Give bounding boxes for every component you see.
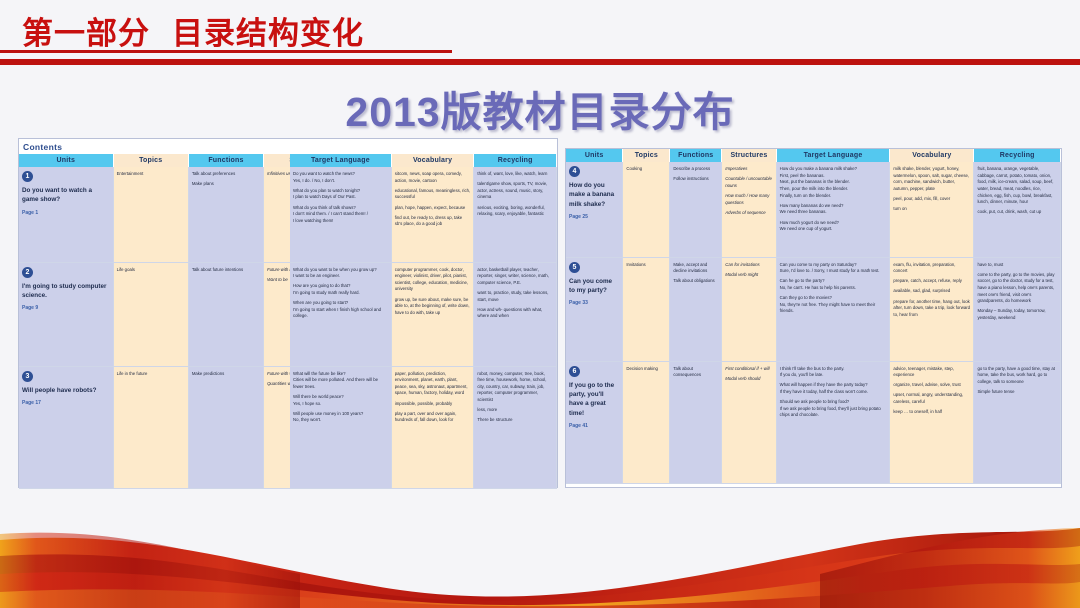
recycling-cell: actor, basketball player, teacher, repor…: [474, 262, 557, 366]
cell-paragraph: exam, flu, invitation, preparation, conc…: [893, 262, 970, 275]
unit-number-badge: 1: [22, 171, 33, 182]
unit-title: I'm going to study computer science.: [22, 282, 110, 301]
functions-cell: Describe a processFollow instructions: [670, 162, 722, 257]
cell-paragraph: What do you plan to watch tonight?I plan…: [293, 188, 388, 201]
unit-cell[interactable]: 2I'm going to study computer science.Pag…: [19, 262, 113, 366]
target-language-cell: What do you want to be when you grow up?…: [290, 262, 391, 366]
cell-paragraph: organize, travel, advise, solve, trust: [893, 382, 970, 389]
cell-paragraph: How much / How many questions: [725, 193, 772, 206]
cell-paragraph: available, sad, glad, surprised: [893, 288, 970, 295]
column-header-recycling: Recycling: [474, 154, 557, 167]
topics-cell: Entertainment: [113, 167, 188, 262]
table-header-row-right: Units Topics Functions Structures Target…: [566, 149, 1061, 162]
heading-underline-thin: [0, 50, 452, 53]
cell-paragraph: Can you come to my party on Saturday?Sur…: [780, 262, 887, 275]
cell-paragraph: Do you want to watch the news?Yes, I do.…: [293, 171, 388, 184]
unit-number-badge: 3: [22, 371, 33, 382]
cell-paragraph: paper, pollution, prediction, environmen…: [395, 371, 471, 398]
table-row: 5Can you come to my party?Page 33Invitat…: [566, 257, 1061, 361]
vocabulary-cell: sitcom, news, soap opera, comedy, action…: [391, 167, 474, 262]
cell-paragraph: First conditional if + will: [725, 366, 772, 373]
slide-canvas: 第一部分目录结构变化 2013版教材目录分布 Contents Units To…: [0, 0, 1080, 608]
cell-paragraph: think of, want, love, like, watch, learn: [477, 171, 553, 178]
cell-paragraph: Life goals: [117, 267, 185, 274]
cell-paragraph: Life in the future: [117, 371, 185, 378]
column-header-functions-right: Functions: [670, 149, 722, 162]
cell-paragraph: talent/game show, sports, TV, movie, act…: [477, 181, 553, 201]
spacer-label-left: [290, 139, 557, 154]
column-header-vocabulary: Vocabulary: [391, 154, 474, 167]
unit-number-badge: 5: [569, 262, 580, 273]
column-header-units-right: Units: [566, 149, 623, 162]
unit-cell[interactable]: 6If you go to the party, you'll have a g…: [566, 361, 623, 483]
target-language-cell: How do you make a banana milk shake?Firs…: [776, 162, 890, 257]
topics-cell: Decision making: [623, 361, 670, 483]
column-header-vocabulary-right: Vocabulary: [890, 149, 974, 162]
cell-paragraph: milk shake, blender, yogurt, honey, wate…: [893, 166, 970, 193]
cell-paragraph: Entertainment: [117, 171, 185, 178]
column-header-topics: Topics: [113, 154, 188, 167]
cell-paragraph: Make, accept and decline invitations: [673, 262, 718, 275]
topics-cell: Invitations: [623, 257, 670, 361]
cell-paragraph: educational, famous, meaningless, rich, …: [395, 188, 471, 201]
unit-title: How do you make a banana milk shake?: [569, 181, 619, 209]
cell-paragraph: want to, practice, study, take lessons, …: [477, 290, 553, 303]
cell-paragraph: Will there be world peace?Yes, I hope so…: [293, 394, 388, 407]
contents-table-left-wide: Target Language Vocabulary Recycling Do …: [290, 138, 558, 488]
unit-number-badge: 2: [22, 267, 33, 278]
functions-cell: Talk about consequences: [670, 361, 722, 483]
red-ribbon-decoration: [0, 498, 1080, 608]
page-title: 2013版教材目录分布: [0, 78, 1080, 138]
functions-cell: Talk about preferencesMake plans: [188, 167, 263, 262]
cell-paragraph: peel, pour, add, mix, fill, cover: [893, 196, 970, 203]
structures-cell: ImperativesCountable / uncountable nouns…: [722, 162, 776, 257]
cell-paragraph: Make predictions: [192, 371, 260, 378]
cell-paragraph: Modal verb might: [725, 272, 772, 279]
cell-paragraph: Will people use money in 100 years?No, t…: [293, 411, 388, 424]
cell-paragraph: turn on: [893, 206, 970, 213]
cell-paragraph: Adverbs of sequence: [725, 210, 772, 217]
cell-paragraph: prepare, catch, accept, refuse, reply: [893, 278, 970, 285]
unit-page-label: Page 1: [22, 210, 110, 218]
unit-cell[interactable]: 4How do you make a banana milk shake?Pag…: [566, 162, 623, 257]
cell-paragraph: find out, be ready to, dress up, take sb…: [395, 215, 471, 228]
cell-paragraph: Talk about obligations: [673, 278, 718, 285]
vocabulary-cell: milk shake, blender, yogurt, honey, wate…: [890, 162, 974, 257]
cell-paragraph: play a part, over and over again, hundre…: [395, 411, 471, 424]
target-language-cell: What will the future be like?Cities will…: [290, 366, 391, 488]
unit-title: Can you come to my party?: [569, 277, 619, 296]
cell-paragraph: How much yogurt do we need?We need one c…: [780, 220, 887, 233]
cell-paragraph: have to, must: [977, 262, 1057, 269]
unit-page-label: Page 17: [22, 400, 110, 408]
vocabulary-cell: advice, teenager, mistake, step, experie…: [890, 361, 974, 483]
cell-paragraph: less, more: [477, 407, 553, 414]
topics-cell: Life goals: [113, 262, 188, 366]
cell-paragraph: How are you going to do that?I'm going t…: [293, 283, 388, 296]
units-grid-right: Units Topics Functions Structures Target…: [566, 149, 1061, 484]
cell-paragraph: When are you going to start?I'm going to…: [293, 300, 388, 320]
unit-page-label: Page 41: [569, 423, 619, 431]
column-header-target-language: Target Language: [290, 154, 391, 167]
recycling-cell: robot, money, computer, tree, book, free…: [474, 366, 557, 488]
recycling-cell: fruit, banana, orange, vegetable, cabbag…: [974, 162, 1061, 257]
table-header-row-left-wide: Target Language Vocabulary Recycling: [290, 154, 557, 167]
cell-paragraph: Cooking: [626, 166, 666, 173]
target-language-cell: I think I'll take the bus to the party.I…: [776, 361, 890, 483]
unit-page-label: Page 25: [569, 214, 619, 222]
cell-paragraph: robot, money, computer, tree, book, free…: [477, 371, 553, 404]
cell-paragraph: What do you want to be when you grow up?…: [293, 267, 388, 280]
column-header-structures-right: Structures: [722, 149, 776, 162]
cell-paragraph: Can he go to the party?No, he can't. He …: [780, 278, 887, 291]
table-row: Do you want to watch the news?Yes, I do.…: [290, 167, 557, 262]
cell-paragraph: There be structure: [477, 417, 553, 424]
unit-cell[interactable]: 1Do you want to watch a game show?Page 1: [19, 167, 113, 262]
cell-paragraph: Simple future tense: [977, 389, 1057, 396]
cell-paragraph: Follow instructions: [673, 176, 718, 183]
functions-cell: Make predictions: [188, 366, 263, 488]
cell-paragraph: Should we ask people to bring food?If we…: [780, 399, 887, 419]
recycling-cell: have to, mustcome to the party, go to th…: [974, 257, 1061, 361]
cell-paragraph: Can they go to the movies?No, they're no…: [780, 295, 887, 315]
cell-paragraph: Make plans: [192, 181, 260, 188]
target-language-cell: Do you want to watch the news?Yes, I do.…: [290, 167, 391, 262]
table-row: 6If you go to the party, you'll have a g…: [566, 361, 1061, 483]
section-label-topic: 目录结构变化: [172, 16, 364, 51]
unit-cell[interactable]: 3Will people have robots?Page 17: [19, 366, 113, 488]
cell-paragraph: Talk about preferences: [192, 171, 260, 178]
cell-paragraph: Imperatives: [725, 166, 772, 173]
column-header-units: Units: [19, 154, 113, 167]
column-header-recycling-right: Recycling: [974, 149, 1061, 162]
cell-paragraph: prepare for, another time, hang out, loo…: [893, 299, 970, 319]
unit-number-badge: 6: [569, 366, 580, 377]
structures-cell: Can for invitationsModal verb might: [722, 257, 776, 361]
cell-paragraph: impossible, possible, probably: [395, 401, 471, 408]
cell-paragraph: Talk about future intentions: [192, 267, 260, 274]
cell-paragraph: Can for invitations: [725, 262, 772, 269]
unit-cell[interactable]: 5Can you come to my party?Page 33: [566, 257, 623, 361]
cell-paragraph: advice, teenager, mistake, step, experie…: [893, 366, 970, 379]
column-header-target-language-right: Target Language: [776, 149, 890, 162]
cell-paragraph: Invitations: [626, 262, 666, 269]
cell-paragraph: Decision making: [626, 366, 666, 373]
unit-title: If you go to the party, you'll have a gr…: [569, 381, 619, 419]
cell-paragraph: What will the future be like?Cities will…: [293, 371, 388, 391]
cell-paragraph: Countable / uncountable nouns: [725, 176, 772, 189]
cell-paragraph: What will happen if they have the party …: [780, 382, 887, 395]
cell-paragraph: Describe a process: [673, 166, 718, 173]
functions-cell: Talk about future intentions: [188, 262, 263, 366]
vocabulary-cell: computer programmer, cook, doctor, engin…: [391, 262, 474, 366]
cell-paragraph: serious, exciting, boring, wonderful, re…: [477, 205, 553, 218]
vocabulary-cell: exam, flu, invitation, preparation, conc…: [890, 257, 974, 361]
cell-paragraph: I think I'll take the bus to the party.I…: [780, 366, 887, 379]
cell-paragraph: How do you make a banana milk shake?Firs…: [780, 166, 887, 199]
unit-number-badge: 4: [569, 166, 580, 177]
cell-paragraph: cook, put, cut, drink, wash, cut up: [977, 209, 1057, 216]
table-row: What will the future be like?Cities will…: [290, 366, 557, 488]
cell-paragraph: Modal verb should: [725, 376, 772, 383]
unit-page-label: Page 9: [22, 305, 110, 313]
cell-paragraph: upset, normal, angry, understanding, car…: [893, 392, 970, 405]
section-label-part: 第一部分: [22, 16, 150, 51]
cell-paragraph: actor, basketball player, teacher, repor…: [477, 267, 553, 287]
structures-cell: First conditional if + willModal verb sh…: [722, 361, 776, 483]
functions-cell: Make, accept and decline invitationsTalk…: [670, 257, 722, 361]
cell-paragraph: What do you think of talk shows?I don't …: [293, 205, 388, 225]
cell-paragraph: keep … to oneself, in half: [893, 409, 970, 416]
cell-paragraph: come to the party, go to the movies, pla…: [977, 272, 1057, 305]
unit-title: Do you want to watch a game show?: [22, 186, 110, 205]
table-row: 4How do you make a banana milk shake?Pag…: [566, 162, 1061, 257]
cell-paragraph: Talk about consequences: [673, 366, 718, 379]
cell-paragraph: Monday – Sunday, today, tomorrow, yester…: [977, 308, 1057, 321]
topics-cell: Life in the future: [113, 366, 188, 488]
cell-paragraph: How many bananas do we need?We need thre…: [780, 203, 887, 216]
table-row: What do you want to be when you grow up?…: [290, 262, 557, 366]
cell-paragraph: grow up, be sure about, make sure, be ab…: [395, 297, 471, 317]
vocabulary-cell: paper, pollution, prediction, environmen…: [391, 366, 474, 488]
heading-underline-thick: [0, 59, 1080, 65]
cell-paragraph: go to the party, have a good time, stay …: [977, 366, 1057, 386]
cell-paragraph: How and wh- questions with what, where a…: [477, 307, 553, 320]
column-header-functions: Functions: [188, 154, 263, 167]
unit-title: Will people have robots?: [22, 386, 110, 395]
contents-table-right: Units Topics Functions Structures Target…: [565, 148, 1062, 488]
unit-page-label: Page 33: [569, 300, 619, 308]
recycling-cell: think of, want, love, like, watch, learn…: [474, 167, 557, 262]
recycling-cell: go to the party, have a good time, stay …: [974, 361, 1061, 483]
units-grid-left-wide: Target Language Vocabulary Recycling Do …: [290, 154, 557, 489]
section-heading: 第一部分目录结构变化: [22, 8, 364, 53]
cell-paragraph: computer programmer, cook, doctor, engin…: [395, 267, 471, 294]
cell-paragraph: fruit, banana, orange, vegetable, cabbag…: [977, 166, 1057, 206]
target-language-cell: Can you come to my party on Saturday?Sur…: [776, 257, 890, 361]
cell-paragraph: plan, hope, happen, expect, because: [395, 205, 471, 212]
cell-paragraph: sitcom, news, soap opera, comedy, action…: [395, 171, 471, 184]
column-header-topics-right: Topics: [623, 149, 670, 162]
topics-cell: Cooking: [623, 162, 670, 257]
